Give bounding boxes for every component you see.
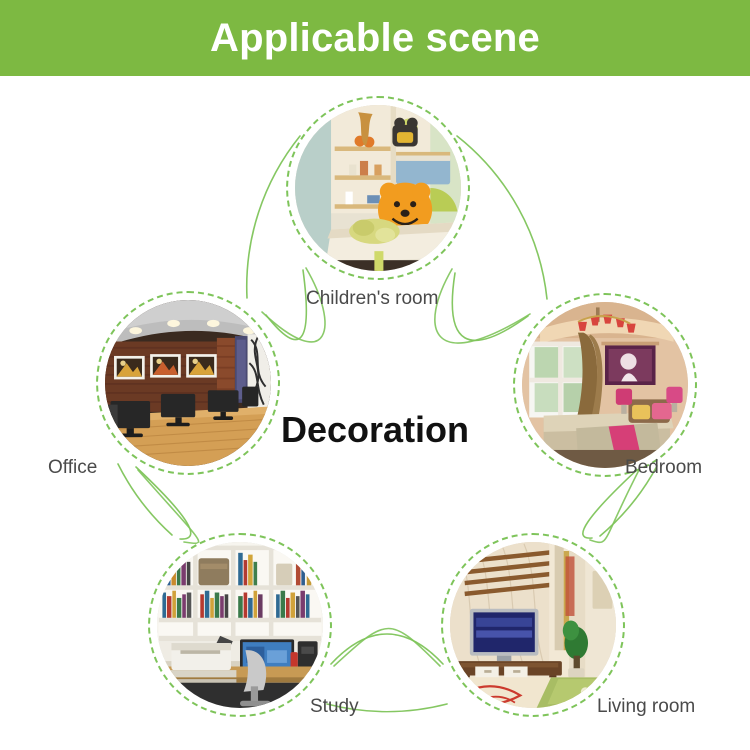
inner-arc-office-children <box>266 270 306 340</box>
inner-web-bedroom-living <box>590 470 639 542</box>
scene-node-living-room[interactable] <box>441 533 625 717</box>
scene-diagram: Children's room <box>0 76 750 750</box>
scene-node-bedroom[interactable] <box>513 293 697 477</box>
inner-arc-children-bedroom <box>452 273 528 340</box>
scene-node-childrens-room[interactable] <box>286 96 470 280</box>
scene-label-office: Office <box>48 457 97 479</box>
outer-arc-study-office <box>118 464 172 535</box>
study-photo <box>157 542 323 708</box>
inner-arc-living-study <box>331 634 443 664</box>
scene-label-study: Study <box>310 696 359 718</box>
inner-web-study-office <box>138 470 199 543</box>
center-title: Decoration <box>281 409 469 451</box>
inner-arc-study-office <box>136 467 191 539</box>
scene-node-study[interactable] <box>148 533 332 717</box>
outer-arc-children-bedroom <box>457 136 547 299</box>
scene-node-office[interactable] <box>96 291 280 475</box>
page-title: Applicable scene <box>210 18 540 58</box>
inner-web-children-bedroom <box>435 269 530 343</box>
scene-label-living-room: Living room <box>597 696 695 718</box>
childrens-room-photo <box>295 105 461 271</box>
office-photo <box>105 300 271 466</box>
living-room-photo <box>450 542 616 708</box>
scene-label-childrens-room: Children's room <box>306 288 438 310</box>
inner-web-living-study <box>334 629 440 667</box>
header-banner: Applicable scene <box>0 0 750 76</box>
applicable-scene-infographic: Applicable scene <box>0 0 750 750</box>
bedroom-photo <box>522 302 688 468</box>
scene-label-bedroom: Bedroom <box>625 457 702 479</box>
